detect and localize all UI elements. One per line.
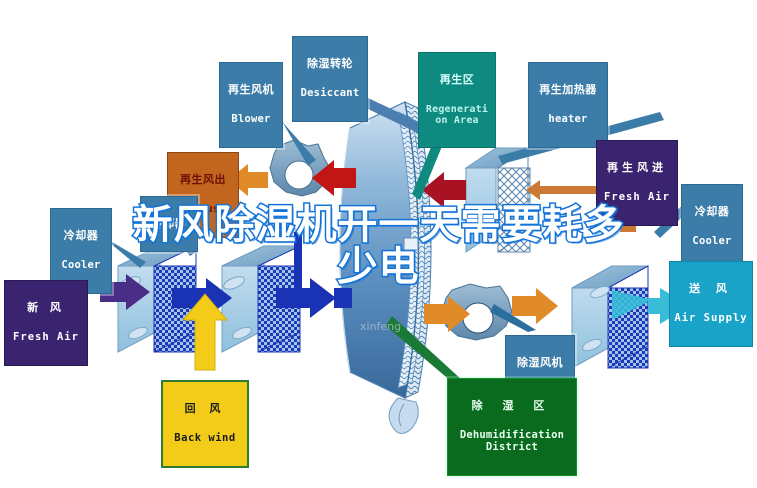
label-regen-area-en: Regenerati on Area	[421, 104, 493, 126]
label-regen-blower: 再生风机 Blower	[219, 62, 283, 148]
label-cooler-left-1-en: Cooler	[53, 260, 109, 272]
label-regen-fresh-air-cn: 再生风进	[599, 162, 675, 174]
label-cooler-left-2-cn: 冷却器	[143, 218, 195, 230]
label-regen-heater-cn: 再生加热器	[531, 84, 605, 96]
label-back-wind: 回 风 Back wind	[161, 380, 249, 468]
label-cooler-right: 冷却器 Cooler	[681, 184, 743, 270]
label-desiccant-wheel-cn: 除湿转轮	[295, 58, 365, 70]
regen-heater-block	[466, 148, 530, 252]
label-cooler-right-en: Cooler	[684, 236, 740, 248]
label-regen-fresh-air-en: Fresh Air	[599, 192, 675, 204]
label-fresh-air-in-cn: 新 风	[7, 302, 85, 314]
label-cooler-left-1-cn: 冷却器	[53, 230, 109, 242]
label-regen-heater-en: heater	[531, 114, 605, 126]
dehumidifier-diagram: xinfeng 除湿转轮 Desiccant 再生风机 Blower 再生区 R…	[0, 0, 757, 488]
label-fresh-air-in: 新 风 Fresh Air	[4, 280, 88, 366]
label-exhaust-cn: 再生风出	[170, 174, 236, 186]
label-fresh-air-in-en: Fresh Air	[7, 332, 85, 344]
label-regen-blower-en: Blower	[222, 114, 280, 126]
label-regen-blower-cn: 再生风机	[222, 84, 280, 96]
arrow-dehumid-2	[512, 288, 558, 324]
diagram-artwork: xinfeng	[0, 0, 757, 488]
label-air-supply-cn: 送 风	[672, 283, 750, 295]
label-dehumid-district: 除 湿 区 Dehumidification District	[447, 378, 577, 476]
arrow-process-3	[334, 288, 352, 308]
label-cooler-left-2: 冷却器	[140, 196, 198, 252]
label-back-wind-en: Back wind	[165, 433, 245, 445]
label-regen-area-cn: 再生区	[421, 74, 493, 86]
desiccant-rotor-wheel	[340, 102, 431, 434]
label-desiccant-wheel: 除湿转轮 Desiccant	[292, 36, 368, 122]
cooler-block-3	[572, 266, 648, 368]
label-regen-heater: 再生加热器 heater	[528, 62, 608, 148]
label-dehumid-district-cn: 除 湿 区	[450, 400, 574, 412]
label-air-supply-en: Air Supply	[672, 313, 750, 325]
label-air-supply: 送 风 Air Supply	[669, 261, 753, 347]
arrow-process-down	[294, 232, 302, 300]
label-dehumid-district-en: Dehumidification District	[450, 430, 574, 454]
svg-text:xinfeng: xinfeng	[360, 320, 401, 333]
label-regen-fresh-air: 再生风进 Fresh Air	[596, 140, 678, 226]
label-desiccant-wheel-en: Desiccant	[295, 88, 365, 100]
label-back-wind-cn: 回 风	[165, 403, 245, 415]
label-cooler-right-cn: 冷却器	[684, 206, 740, 218]
label-regen-area: 再生区 Regenerati on Area	[418, 52, 496, 148]
label-dehumid-blower-cn: 除湿风机	[508, 357, 572, 369]
